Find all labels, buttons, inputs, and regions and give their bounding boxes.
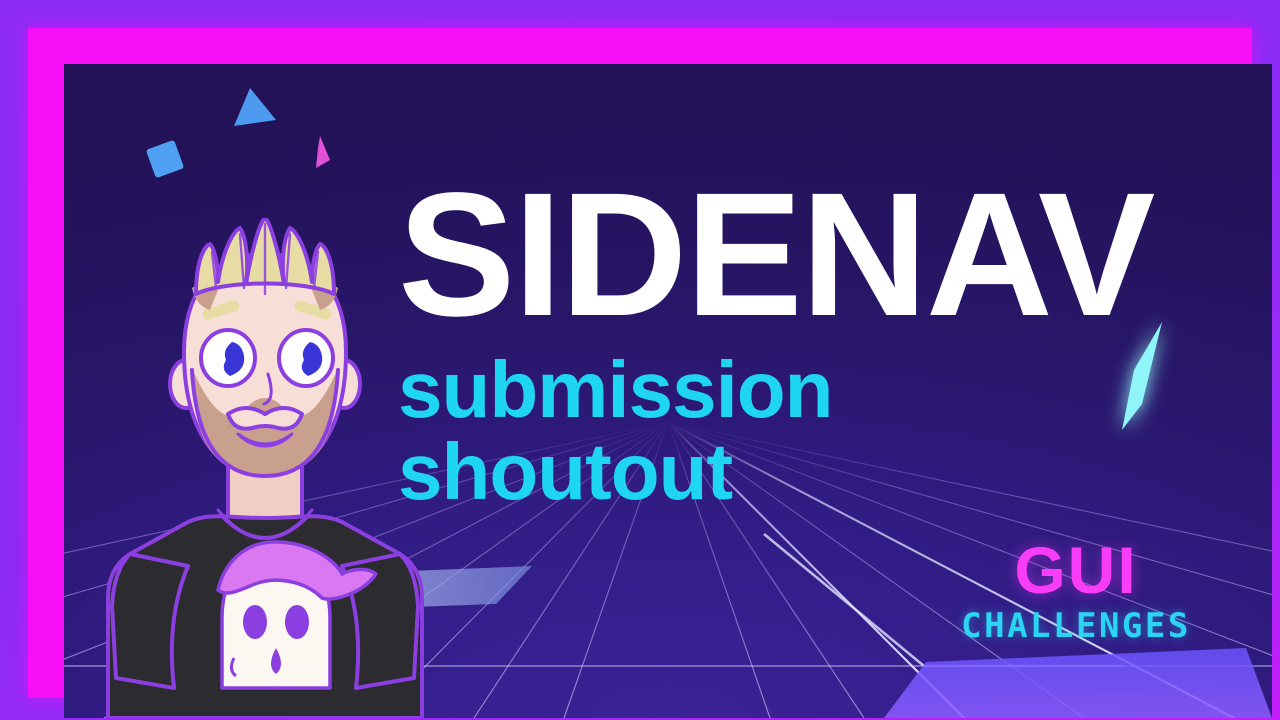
shoutout-title-card: SIDENAV submission shoutout GUI CHALLENG… bbox=[0, 0, 1280, 720]
content-panel: SIDENAV submission shoutout GUI CHALLENG… bbox=[64, 64, 1272, 718]
logo-challenges-text: CHALLENGES bbox=[926, 606, 1226, 646]
neon-border-frame: SIDENAV submission shoutout GUI CHALLENG… bbox=[28, 28, 1252, 698]
page-subtitle: submission shoutout bbox=[398, 349, 1198, 512]
headline-block: SIDENAV submission shoutout bbox=[398, 180, 1198, 513]
logo-gui-text: GUI bbox=[926, 539, 1226, 602]
page-title: SIDENAV bbox=[398, 180, 1198, 331]
gui-challenges-logo: GUI CHALLENGES bbox=[926, 539, 1226, 646]
subtitle-line-1: submission bbox=[398, 349, 1198, 431]
avatar bbox=[100, 218, 430, 718]
subtitle-line-2: shoutout bbox=[398, 431, 1198, 513]
